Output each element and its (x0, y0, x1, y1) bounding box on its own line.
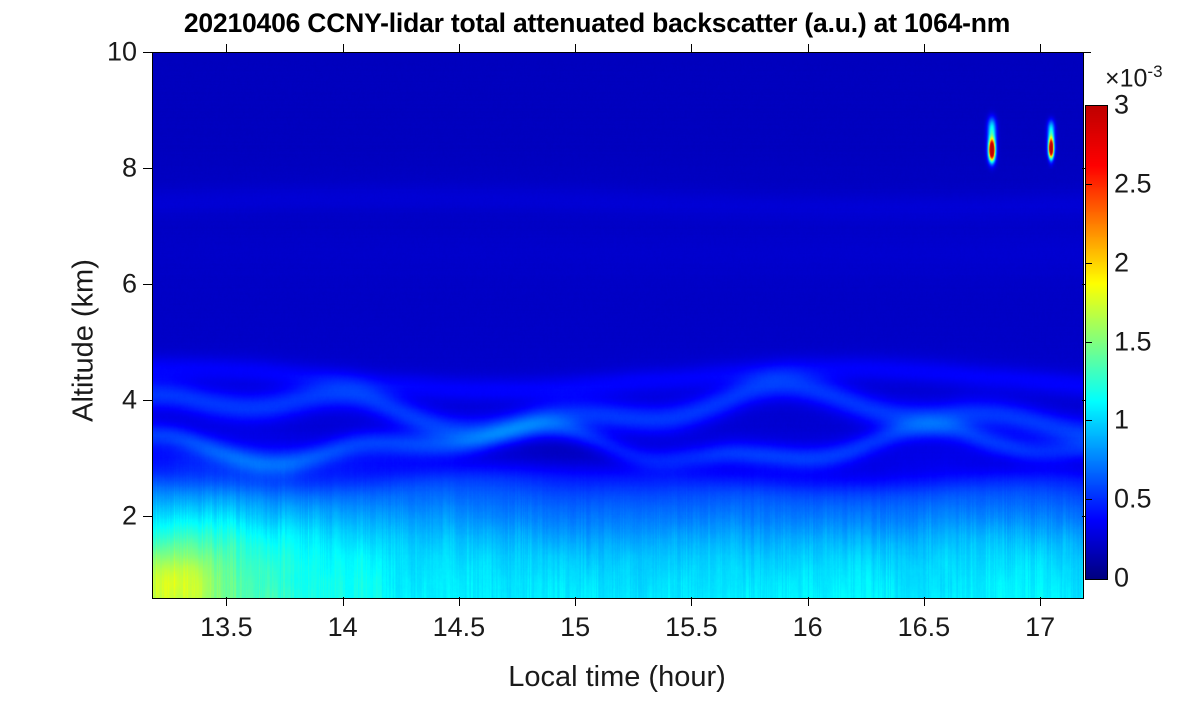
x-tick-label: 15.5 (665, 612, 718, 643)
y-tick-label: 10 (32, 37, 137, 68)
x-tick-mark (575, 597, 576, 606)
x-tick-label: 14 (328, 612, 358, 643)
x-tick-label: 17 (1025, 612, 1055, 643)
colorbar-tick-label: 2 (1114, 247, 1129, 278)
y-tick-mark-right (1082, 52, 1091, 53)
colorbar-tick-label: 0.5 (1114, 484, 1152, 515)
colorbar-exponent-label: ×10-3 (1105, 62, 1163, 93)
y-axis-label: Altitude (km) (68, 191, 101, 491)
x-tick-mark (459, 597, 460, 606)
x-tick-mark (808, 597, 809, 606)
x-tick-mark-top (575, 44, 576, 53)
x-tick-label: 16 (793, 612, 823, 643)
x-tick-label: 14.5 (433, 612, 486, 643)
x-tick-mark-top (808, 44, 809, 53)
y-tick-mark (143, 400, 152, 401)
colorbar-tick-mark (1085, 184, 1092, 185)
y-tick-mark (143, 168, 152, 169)
colorbar-tick-label: 3 (1114, 90, 1129, 121)
x-tick-mark (691, 597, 692, 606)
y-tick-mark (143, 52, 152, 53)
x-tick-mark-top (691, 44, 692, 53)
colorbar-tick-mark (1085, 420, 1092, 421)
x-tick-mark (924, 597, 925, 606)
colorbar-tick-mark (1085, 342, 1092, 343)
backscatter-heatmap (153, 53, 1083, 598)
colorbar-gradient (1086, 106, 1107, 579)
colorbar-power-text: -3 (1147, 62, 1162, 81)
x-tick-mark (1040, 597, 1041, 606)
x-tick-label: 15 (560, 612, 590, 643)
colorbar-tick-mark (1085, 499, 1092, 500)
y-tick-label: 8 (32, 152, 137, 183)
x-tick-mark-top (459, 44, 460, 53)
page-title: 20210406 CCNY-lidar total attenuated bac… (0, 8, 1194, 39)
colorbar (1085, 105, 1108, 580)
colorbar-tick-label: 1.5 (1114, 326, 1152, 357)
y-tick-mark (143, 284, 152, 285)
colorbar-tick-label: 1 (1114, 405, 1129, 436)
x-tick-mark-top (924, 44, 925, 53)
x-tick-mark-top (1040, 44, 1041, 53)
colorbar-tick-label: 2.5 (1114, 168, 1152, 199)
colorbar-tick-mark (1085, 263, 1092, 264)
x-tick-mark-top (226, 44, 227, 53)
y-tick-mark (143, 516, 152, 517)
colorbar-multiplier-text: ×10 (1105, 64, 1147, 92)
x-tick-label: 13.5 (200, 612, 253, 643)
colorbar-tick-label: 0 (1114, 563, 1129, 594)
x-tick-mark (343, 597, 344, 606)
x-tick-mark (226, 597, 227, 606)
heatmap-axes (152, 52, 1084, 599)
lidar-figure: 20210406 CCNY-lidar total attenuated bac… (0, 0, 1194, 703)
x-tick-mark-top (343, 44, 344, 53)
x-axis-label: Local time (hour) (152, 661, 1082, 694)
x-tick-label: 16.5 (898, 612, 951, 643)
y-tick-label: 2 (32, 500, 137, 531)
